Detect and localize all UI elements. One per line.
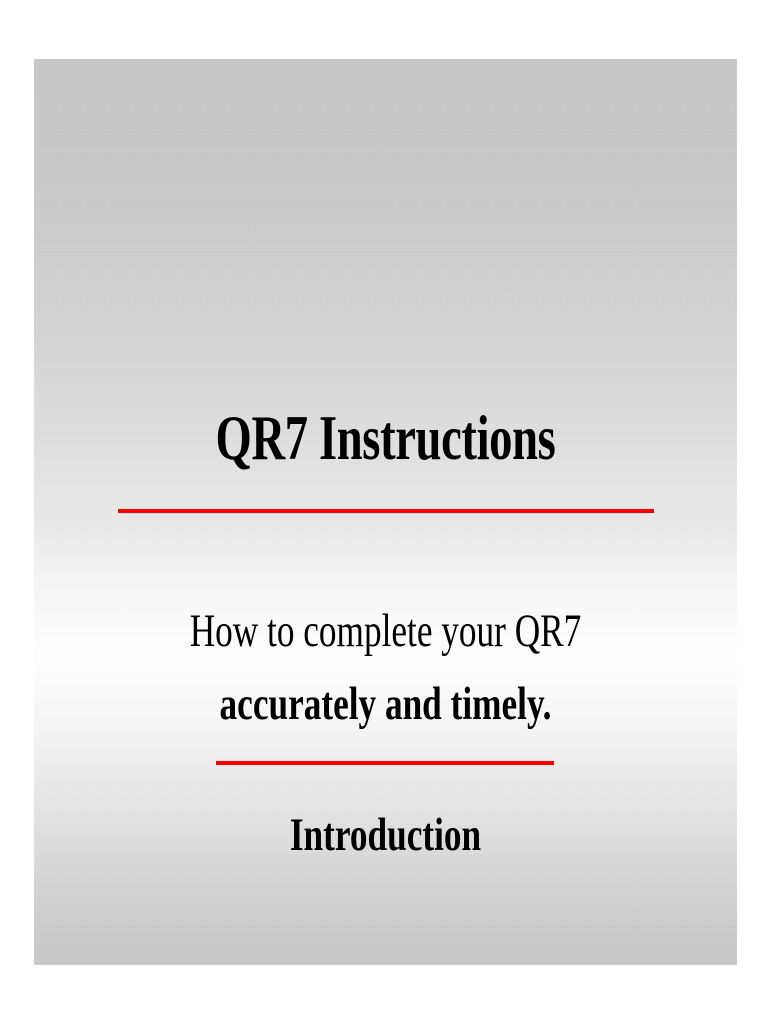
slide-title-text: QR7 Instructions [125, 406, 645, 470]
divider-rule-top [118, 509, 654, 513]
divider-rule-bottom [216, 761, 554, 765]
slide-subtitle-line-2: accurately and timely. [122, 668, 649, 741]
slide-content: QR7 Instructions How to complete your QR… [34, 59, 737, 965]
slide-section-label-text: Introduction [122, 810, 649, 862]
document-page: QR7 Instructions How to complete your QR… [0, 0, 770, 1024]
slide-section-label: Introduction [34, 810, 737, 862]
slide-canvas: QR7 Instructions How to complete your QR… [34, 59, 737, 965]
slide-subtitle-line-1: How to complete your QR7 [122, 595, 649, 668]
slide-subtitle: How to complete your QR7 accurately and … [34, 595, 737, 741]
slide-title: QR7 Instructions [34, 406, 737, 470]
